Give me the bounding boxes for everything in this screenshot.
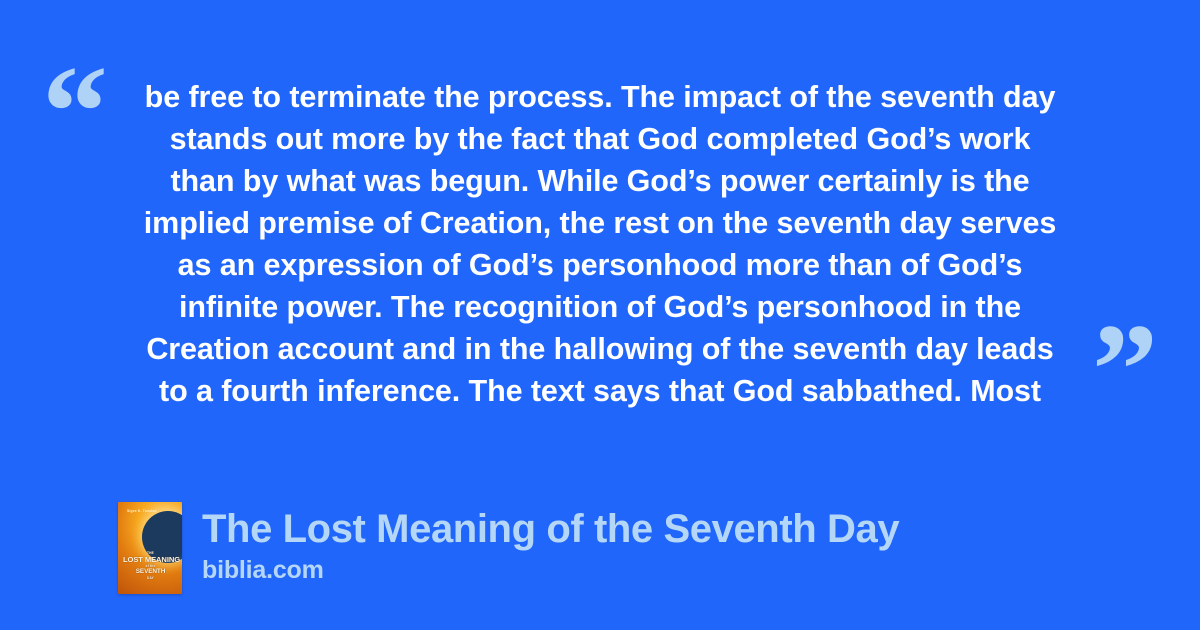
quote-text: be free to terminate the process. The im… xyxy=(104,76,1096,412)
book-cover-thumbnail: Sigve K. Tonstad THE LOST MEANING of the… xyxy=(118,502,182,594)
branding: Sigve K. Tonstad THE LOST MEANING of the… xyxy=(118,502,899,594)
quote-line: implied premise of Creation, the rest on… xyxy=(104,202,1096,244)
quote-block: “ be free to terminate the process. The … xyxy=(0,40,1200,430)
cover-title: THE LOST MEANING of the SEVENTH DAY xyxy=(123,551,178,580)
quote-line: to a fourth inference. The text says tha… xyxy=(104,370,1096,412)
branding-text: The Lost Meaning of the Seventh Day bibl… xyxy=(202,502,899,586)
cover-title-day: DAY xyxy=(123,576,178,580)
quote-card: “ be free to terminate the process. The … xyxy=(0,0,1200,630)
quote-line: as an expression of God’s personhood mor… xyxy=(104,244,1096,286)
open-quote-icon: “ xyxy=(42,46,108,178)
close-quote-icon: ” xyxy=(1092,304,1158,436)
cover-title-seventh: SEVENTH xyxy=(123,568,178,576)
quote-line: be free to terminate the process. The im… xyxy=(104,76,1096,118)
quote-line: infinite power. The recognition of God’s… xyxy=(104,286,1096,328)
quote-line: than by what was begun. While God’s powe… xyxy=(104,160,1096,202)
cover-author: Sigve K. Tonstad xyxy=(127,509,157,513)
site-name[interactable]: biblia.com xyxy=(202,554,899,586)
cover-title-lost-meaning: LOST MEANING xyxy=(123,555,178,564)
quote-line: stands out more by the fact that God com… xyxy=(104,118,1096,160)
quote-line: Creation account and in the hallowing of… xyxy=(104,328,1096,370)
book-title: The Lost Meaning of the Seventh Day xyxy=(202,504,899,554)
